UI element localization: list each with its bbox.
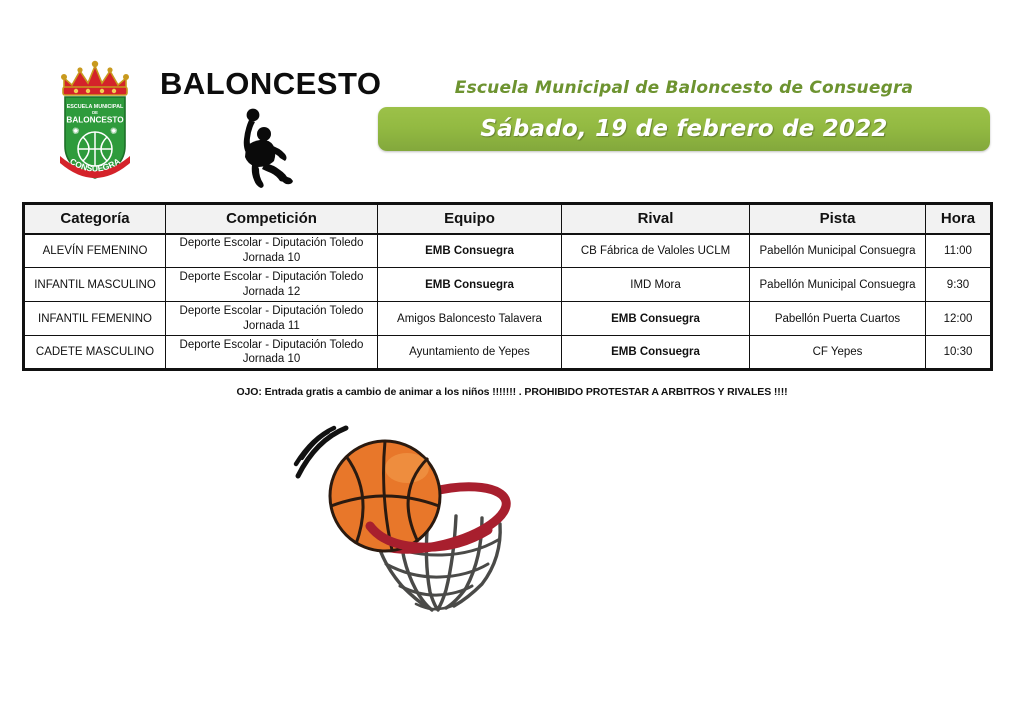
cell-rival: EMB Consuegra — [562, 336, 750, 370]
cell-pista: CF Yepes — [750, 336, 926, 370]
cell-competicion: Deporte Escolar - Diputación Toledo Jorn… — [166, 234, 378, 268]
cell-rival: IMD Mora — [562, 268, 750, 302]
column-header-hora: Hora — [926, 204, 992, 234]
school-name: Escuela Municipal de Baloncesto de Consu… — [378, 78, 990, 98]
cell-hora: 9:30 — [926, 268, 992, 302]
cell-categoria: INFANTIL FEMENINO — [24, 302, 166, 336]
schedule-table: Categoría Competición Equipo Rival Pista… — [22, 202, 993, 371]
column-header-categoria: Categoría — [24, 204, 166, 234]
cell-hora: 10:30 — [926, 336, 992, 370]
table-header-row: Categoría Competición Equipo Rival Pista… — [24, 204, 992, 234]
crest-flower-right: ✺ — [110, 127, 118, 137]
column-header-competicion: Competición — [166, 204, 378, 234]
crest-icon: ESCUELA MUNICIPAL DE BALONCESTO ✺ ✺ CONS… — [52, 58, 138, 180]
table-row: INFANTIL FEMENINO Deporte Escolar - Dipu… — [24, 302, 992, 336]
basketball-hoop-artwork — [282, 418, 534, 618]
page-title: BALONCESTO — [160, 68, 360, 99]
cell-competicion: Deporte Escolar - Diputación Toledo Jorn… — [166, 268, 378, 302]
schedule-table-wrapper: Categoría Competición Equipo Rival Pista… — [22, 202, 990, 371]
column-header-rival: Rival — [562, 204, 750, 234]
title-block: BALONCESTO — [160, 68, 360, 189]
cell-pista: Pabellón Municipal Consuegra — [750, 234, 926, 268]
cell-pista: Pabellón Municipal Consuegra — [750, 268, 926, 302]
schedule-table-body: ALEVÍN FEMENINO Deporte Escolar - Diputa… — [24, 234, 992, 370]
competicion-line2: Jornada 11 — [243, 320, 300, 332]
header-right-block: Escuela Municipal de Baloncesto de Consu… — [378, 78, 990, 151]
crest-flower-left: ✺ — [72, 127, 80, 137]
table-row: CADETE MASCULINO Deporte Escolar - Diput… — [24, 336, 992, 370]
dunking-player-icon — [222, 107, 298, 189]
date-text: Sábado, 19 de febrero de 2022 — [480, 116, 887, 142]
crest-text-line3: BALONCESTO — [66, 116, 124, 125]
cell-categoria: ALEVÍN FEMENINO — [24, 234, 166, 268]
cell-equipo: Amigos Baloncesto Talavera — [378, 302, 562, 336]
competicion-line2: Jornada 10 — [243, 252, 301, 264]
competicion-line1: Deporte Escolar - Diputación Toledo — [180, 339, 364, 351]
cell-categoria: CADETE MASCULINO — [24, 336, 166, 370]
column-header-equipo: Equipo — [378, 204, 562, 234]
cell-categoria: INFANTIL MASCULINO — [24, 268, 166, 302]
competicion-line2: Jornada 10 — [243, 353, 301, 365]
cell-hora: 11:00 — [926, 234, 992, 268]
cell-hora: 12:00 — [926, 302, 992, 336]
cell-pista: Pabellón Puerta Cuartos — [750, 302, 926, 336]
basketball-hoop-icon — [282, 418, 534, 618]
notice-text: OJO: Entrada gratis a cambio de animar a… — [0, 386, 1024, 398]
competicion-line2: Jornada 12 — [243, 286, 301, 298]
cell-competicion: Deporte Escolar - Diputación Toledo Jorn… — [166, 336, 378, 370]
cell-competicion: Deporte Escolar - Diputación Toledo Jorn… — [166, 302, 378, 336]
cell-equipo: EMB Consuegra — [378, 234, 562, 268]
crest-basketball-icon — [78, 132, 112, 166]
table-row: ALEVÍN FEMENINO Deporte Escolar - Diputa… — [24, 234, 992, 268]
cell-rival: EMB Consuegra — [562, 302, 750, 336]
crest-text-line2: DE — [92, 110, 98, 115]
cell-equipo: EMB Consuegra — [378, 268, 562, 302]
cell-equipo: Ayuntamiento de Yepes — [378, 336, 562, 370]
table-row: INFANTIL MASCULINO Deporte Escolar - Dip… — [24, 268, 992, 302]
cell-rival: CB Fábrica de Valoles UCLM — [562, 234, 750, 268]
date-banner: Sábado, 19 de febrero de 2022 — [378, 107, 990, 151]
competicion-line1: Deporte Escolar - Diputación Toledo — [180, 305, 364, 317]
competicion-line1: Deporte Escolar - Diputación Toledo — [180, 271, 364, 283]
poster-header: ESCUELA MUNICIPAL DE BALONCESTO ✺ ✺ CONS… — [0, 0, 1024, 198]
club-crest-logo: ESCUELA MUNICIPAL DE BALONCESTO ✺ ✺ CONS… — [52, 58, 138, 180]
column-header-pista: Pista — [750, 204, 926, 234]
competicion-line1: Deporte Escolar - Diputación Toledo — [180, 237, 364, 249]
